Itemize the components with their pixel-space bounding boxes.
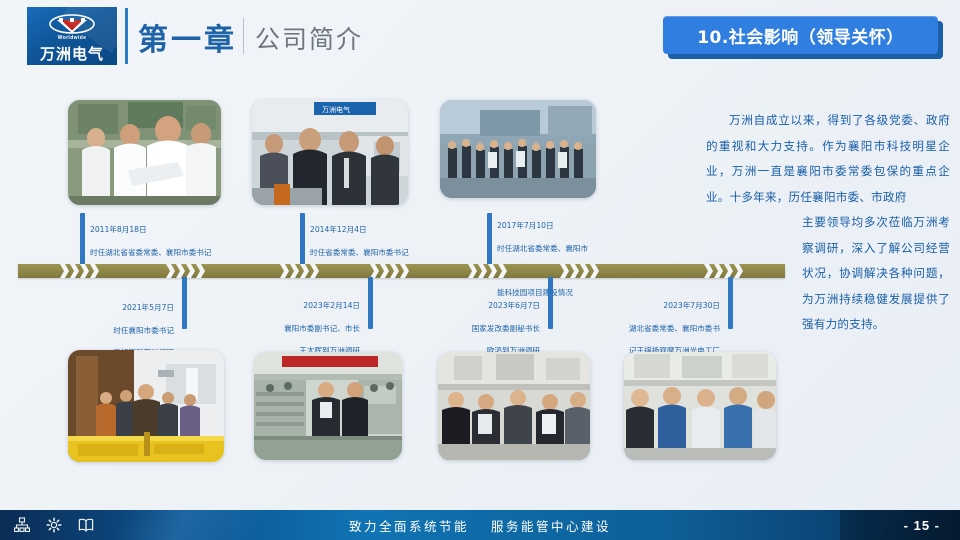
caption-line2: 时任湖北省委常委、襄阳市 (497, 243, 657, 254)
page-number: - 15 - (904, 510, 940, 540)
caption-date: 2023年2月14日 (208, 300, 360, 311)
logo-subtext: Worldwide (27, 35, 117, 41)
timeline-tick-top-3 (487, 213, 492, 265)
chevron-right-icon (390, 264, 399, 278)
timeline-arrows-4 (370, 262, 414, 280)
photo-2017-visit (440, 100, 596, 198)
photo-2023-feb-visit (254, 352, 402, 460)
timeline-tick-bottom-1 (182, 277, 187, 329)
footer-slogan-right: 服务能管中心建设 (491, 516, 611, 535)
timeline-arrows-6 (560, 262, 604, 280)
body-paragraph: 万洲自成立以来，得到了各级党委、政府的重视和大力支持。作为襄阳市科技明星企业，万… (706, 108, 950, 338)
chevron-right-icon (280, 264, 289, 278)
chevron-right-icon (380, 264, 389, 278)
chevron-right-icon (196, 264, 205, 278)
chevron-right-icon (310, 264, 319, 278)
header-divider (125, 8, 128, 64)
chevron-right-icon (90, 264, 99, 278)
caption-date: 2023年6月7日 (388, 300, 540, 311)
slide-header: Worldwide 万洲电气 第一章 公司简介 10.社会影响（领导关怀） (0, 0, 960, 78)
caption-date: 2014年12月4日 (310, 224, 480, 235)
caption-date: 2021年5月7日 (22, 302, 174, 313)
chevron-right-icon (166, 264, 175, 278)
caption-line2: 襄阳市委副书记、市长 (208, 323, 360, 334)
caption-line2: 湖北省委常委、襄阳市委书 (566, 323, 720, 334)
svg-text:万洲电气: 万洲电气 (322, 105, 350, 114)
title-separator (243, 18, 244, 54)
photo-2014-visit: 万洲电气 (252, 100, 408, 205)
chevron-right-icon (590, 264, 599, 278)
timeline-arrows-1 (60, 262, 104, 280)
footer-slogan-left: 致力全面系统节能 (349, 516, 469, 535)
caption-line2: 时任省委常委、襄阳市委书记 (310, 247, 480, 258)
caption-line2: 时任襄阳市委书记 (22, 325, 174, 336)
photo-2021-visit (68, 350, 224, 462)
chevron-right-icon (570, 264, 579, 278)
caption-line2: 国家发改委副秘书长 (388, 323, 540, 334)
section-title: 公司简介 (255, 20, 363, 56)
body-paragraph-part1: 万洲自成立以来，得到了各级党委、政府的重视和大力支持。作为襄阳市科技明星企业，万… (706, 108, 950, 210)
caption-date: 2023年7月30日 (566, 300, 720, 311)
timeline-tick-bottom-2 (368, 277, 373, 329)
chevron-right-icon (70, 264, 79, 278)
chevron-right-icon (478, 264, 487, 278)
slide-footer: 致力全面系统节能 服务能管中心建设 - 15 - (0, 510, 960, 540)
chevron-right-icon (290, 264, 299, 278)
body-paragraph-part2: 主要领导均多次莅临万洲考察调研，深入了解公司经营状况，协调解决各种问题，为万洲持… (802, 210, 950, 338)
timeline-arrows-3 (280, 262, 324, 280)
logo-company-name: 万洲电气 (27, 43, 117, 64)
chevron-right-icon (400, 264, 409, 278)
section-badge: 10.社会影响（领导关怀） (663, 16, 938, 54)
chevron-right-icon (468, 264, 477, 278)
chevron-right-icon (560, 264, 569, 278)
chevron-right-icon (186, 264, 195, 278)
timeline-tick-bottom-3 (548, 277, 553, 329)
timeline-arrows-2 (166, 262, 210, 280)
chevron-right-icon (498, 264, 507, 278)
caption-line2: 时任湖北省省委常委、襄阳市委书记 (90, 247, 260, 258)
chapter-title: 第一章 (138, 15, 237, 59)
chevron-right-icon (370, 264, 379, 278)
chevron-right-icon (300, 264, 309, 278)
chevron-right-icon (80, 264, 89, 278)
timeline-arrows-5 (468, 262, 512, 280)
photo-2023-jun-visit (438, 352, 590, 460)
photo-2011-visit (68, 100, 221, 205)
photo-2023-jul-visit (624, 352, 776, 460)
timeline-tick-top-2 (300, 213, 305, 265)
caption-date: 2017年7月10日 (497, 220, 657, 231)
chevron-right-icon (488, 264, 497, 278)
chevron-right-icon (580, 264, 589, 278)
timeline-tick-top-1 (80, 213, 85, 265)
company-logo: Worldwide 万洲电气 (27, 7, 117, 65)
badge-label: 10.社会影响（领导关怀） (663, 16, 938, 54)
chevron-right-icon (176, 264, 185, 278)
chevron-right-icon (60, 264, 69, 278)
caption-date: 2011年8月18日 (90, 224, 260, 235)
footer-slogan: 致力全面系统节能 服务能管中心建设 (0, 510, 960, 540)
